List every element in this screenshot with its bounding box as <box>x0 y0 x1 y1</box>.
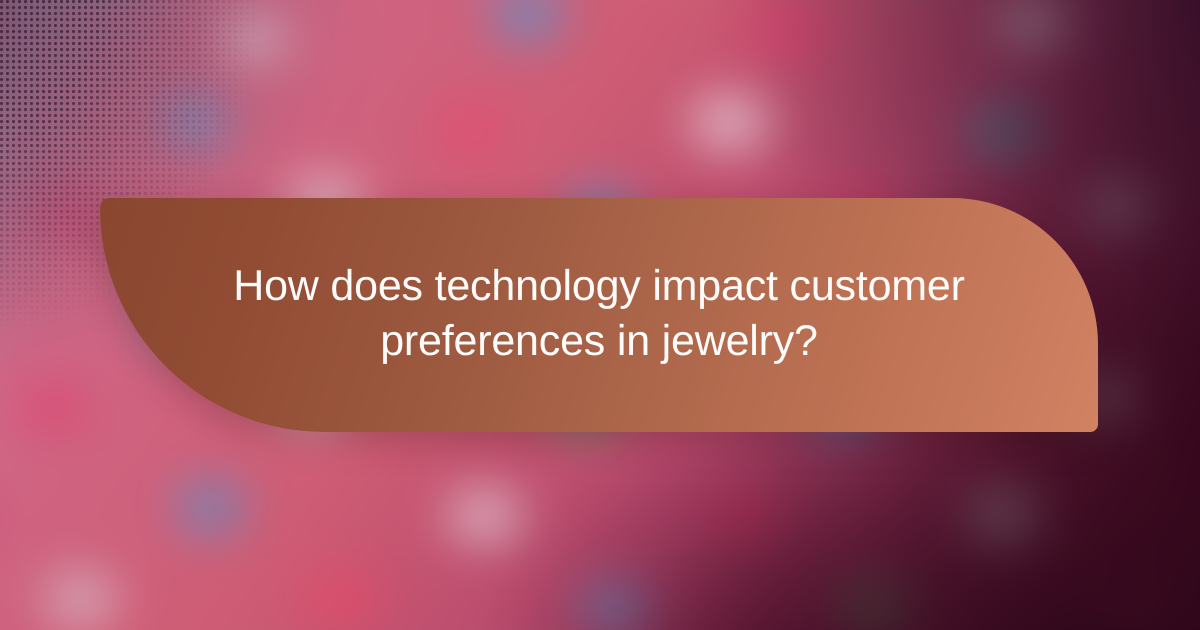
quote-card: How does technology impact customer pref… <box>100 198 1098 432</box>
quote-card-banner: How does technology impact customer pref… <box>0 0 1200 630</box>
quote-card-title: How does technology impact customer pref… <box>219 259 979 371</box>
